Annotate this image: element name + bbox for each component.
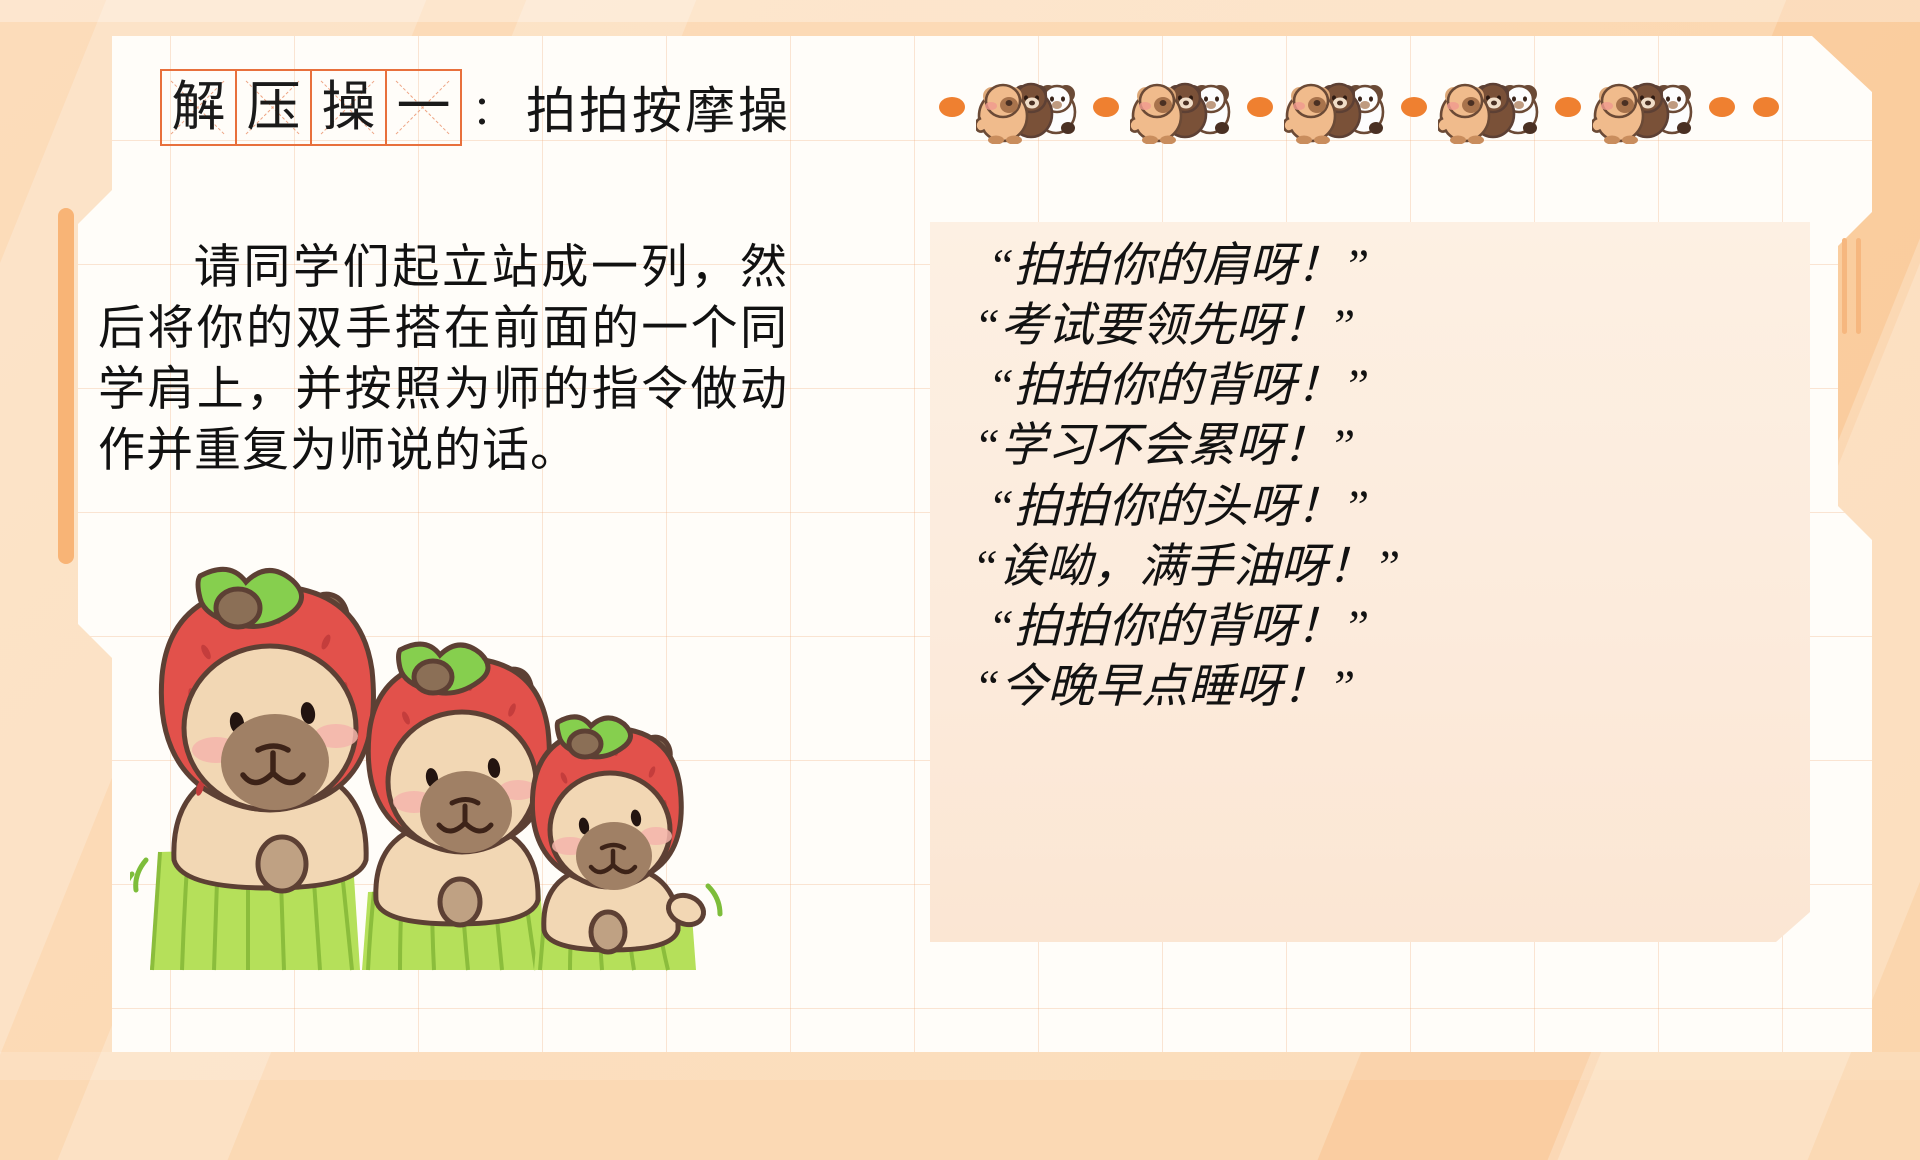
capybara-paw-small [591,912,625,952]
title-char: 解 [172,80,226,134]
strawberry-leaf-medium [399,644,489,693]
header-decoration-strip [930,66,1810,148]
tianzige-cell: 解 [160,69,235,146]
capybara-trio-icon [976,70,1082,144]
accent-line [1856,238,1861,334]
decoration-dot [1753,97,1779,117]
instruction-paragraph: 请同学们起立站成一列，然后将你的双手搭在前面的一个同学肩上，并按照为师的指令做动… [98,238,788,482]
capybara-illustration [130,560,750,980]
tianzige-cell: 一 [385,69,462,146]
capybara-trio-icon [1284,70,1390,144]
instruction-text: 请同学们起立站成一列，然后将你的双手搭在前面的一个同学肩上，并按照为师的指令做动… [98,242,788,477]
decoration-dot [1401,97,1427,117]
page-title: 解 压 操 一 ： 拍拍按摩操 [160,62,791,152]
chant-line: “拍拍你的背呀！” [930,356,1810,416]
strawberry-leaf-small [557,717,630,757]
chant-line: “考试要领先呀！” [930,296,1810,356]
title-char: 一 [397,80,451,134]
title-subtitle: 拍拍按摩操 [526,71,791,143]
capybara-trio-icon [1130,70,1236,144]
capybara-paw-medium [440,879,480,925]
bg-bottom-band [0,1052,1920,1080]
motion-lines [130,860,146,900]
decoration-dot [1247,97,1273,117]
bg-top-band [0,0,1920,22]
chant-line: “拍拍你的肩呀！” [930,236,1810,296]
tianzige-cell: 压 [235,69,310,146]
chant-line: “今晚早点睡呀！” [930,657,1810,717]
decoration-dot [939,97,965,117]
capybara-trio-svg [130,560,750,980]
decoration-dot [1093,97,1119,117]
capybara-trio-icon [1592,70,1698,144]
right-tab-accent [1838,238,1868,334]
capybara-trio-icon [1130,70,1236,144]
chant-line: “拍拍你的背呀！” [930,597,1810,657]
tianzige-grid: 解 压 操 一 [160,69,462,146]
left-tab-accent [58,208,74,564]
title-char: 压 [247,80,301,134]
chant-line: “拍拍你的头呀！” [930,477,1810,537]
decoration-dot [1555,97,1581,117]
capybara-trio-icon [1438,70,1544,144]
chant-line: “学习不会累呀！” [930,416,1810,476]
capybara-trio-icon [1438,70,1544,144]
capybara-trio-icon [1592,70,1698,144]
capybara-trio-icon [976,70,1082,144]
capybara-trio-icon [1284,70,1390,144]
tianzige-cell: 操 [310,69,385,146]
motion-lines-right [708,886,720,914]
capybara-paw-large [258,837,306,891]
title-char: 操 [322,80,376,134]
accent-line [1842,238,1847,334]
chant-line-list: “拍拍你的肩呀！” “考试要领先呀！” “拍拍你的背呀！” “学习不会累呀！” … [930,236,1810,717]
chant-line: “诶呦，满手油呀！” [930,537,1810,597]
title-colon: ： [472,78,512,136]
decoration-dot [1709,97,1735,117]
